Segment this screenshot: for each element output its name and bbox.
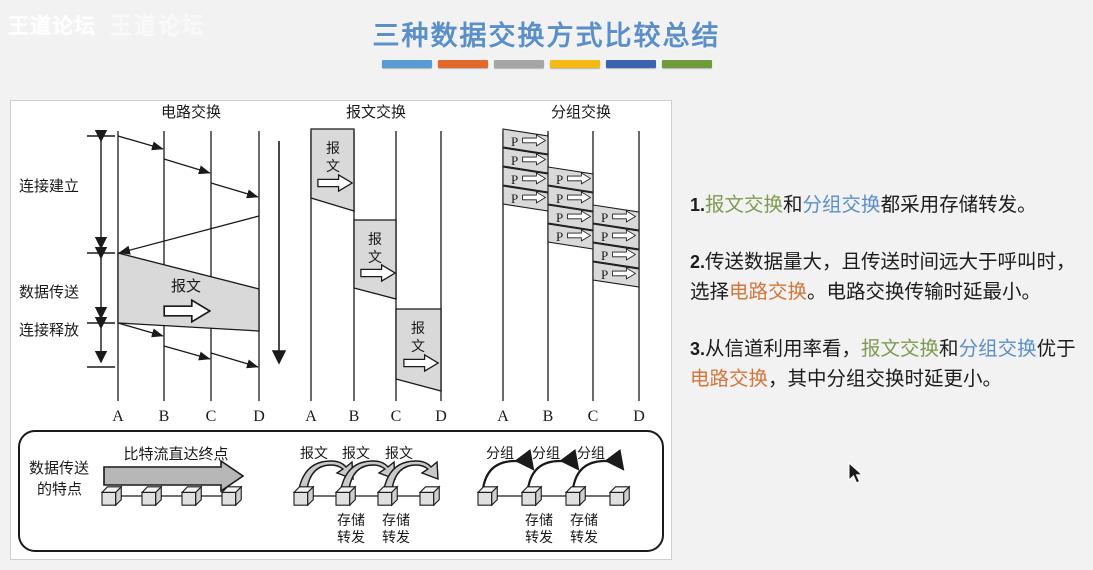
node-label: D: [633, 408, 645, 425]
switching-diagram-svg: 电路交换 报文交换 分组交换 连接建立 数据传送 连接释放: [11, 101, 671, 559]
node-label: B: [349, 408, 360, 425]
feature-box: 数据传送 的特点 比特流直达终点 报文 报文 报文: [19, 431, 663, 551]
circuit-switching-group: 报文 A B C D: [112, 131, 265, 425]
packet-cell-label: P: [601, 248, 608, 263]
svg-text:连接建立: 连接建立: [19, 178, 79, 195]
note-index: 2.: [690, 252, 705, 272]
node-label: A: [497, 408, 509, 425]
packet-cell-label: P: [511, 153, 518, 168]
packet-cell-label: P: [601, 229, 608, 244]
title-rule-segment-5: [606, 60, 656, 68]
note-index: 1.: [690, 195, 705, 215]
node-label: A: [305, 408, 317, 425]
svg-text:报: 报: [326, 141, 340, 157]
summary-notes: 1.报文交换和分组交换都采用存储转发。2.传送数据量大，且传送时间远大于呼叫时，…: [690, 190, 1090, 421]
packet-cell-label: P: [511, 172, 518, 187]
feature-row-label-1: 数据传送: [29, 460, 89, 477]
packet-cell-label: P: [556, 229, 563, 244]
circuit-payload-label: 报文: [171, 278, 201, 295]
feature-store-label: 存储: [337, 513, 365, 529]
note-segment-plain: 和: [783, 195, 803, 216]
node-label: C: [588, 408, 599, 425]
summary-note-2: 2.传送数据量大，且传送时间远大于呼叫时，选择电路交换。电路交换传输时延最小。: [690, 247, 1090, 308]
summary-note-1: 1.报文交换和分组交换都采用存储转发。: [690, 190, 1090, 221]
packet-cell-label: P: [556, 191, 563, 206]
phase-brackets: [87, 136, 115, 367]
feature-message-hop-label: 报文: [385, 446, 413, 462]
packet-cell-label: P: [601, 267, 608, 282]
packet-switching-group: PPPPPPPPPPPP A B C D: [497, 129, 645, 425]
note-segment-ckt: 电路交换: [729, 282, 807, 303]
title-rule-segment-6: [662, 60, 712, 68]
phase-labels: 连接建立 数据传送 连接释放: [19, 178, 79, 339]
feature-store-label: 存储: [382, 513, 410, 529]
packet-cell-label: P: [511, 134, 518, 149]
title-rule: [382, 60, 712, 68]
svg-text:报: 报: [368, 232, 382, 248]
mouse-cursor: [848, 462, 866, 486]
node-label: A: [112, 408, 124, 425]
packet-cell-label: P: [556, 210, 563, 225]
node-label: B: [159, 408, 170, 425]
packet-cell-label: P: [556, 172, 563, 187]
note-segment-pkt: 分组交换: [959, 339, 1037, 360]
svg-text:连接释放: 连接释放: [19, 322, 79, 339]
note-segment-plain: 优于: [1037, 339, 1076, 360]
note-segment-msg: 报文交换: [861, 339, 939, 360]
title-rule-segment-4: [550, 60, 600, 68]
feature-store-label: 转发: [382, 530, 410, 546]
svg-text:文: 文: [411, 339, 425, 355]
note-segment-plain: 都采用存储转发。: [881, 195, 1037, 216]
feature-store-label: 存储: [525, 513, 553, 529]
note-segment-plain: 。电路交换传输时延最小。: [807, 282, 1041, 303]
feature-circuit-caption: 比特流直达终点: [123, 446, 228, 463]
svg-text:报: 报: [411, 321, 425, 337]
node-label: D: [435, 408, 447, 425]
feature-message-hop-label: 报文: [300, 446, 328, 462]
feature-message-hop-label: 报文: [342, 446, 370, 462]
column-title-packet: 分组交换: [551, 103, 611, 121]
column-title-circuit: 电路交换: [161, 103, 221, 121]
note-segment-plain: ，其中分组交换时延更小。: [768, 369, 1002, 390]
switching-diagram-panel: 电路交换 报文交换 分组交换 连接建立 数据传送 连接释放: [10, 100, 672, 560]
note-index: 3.: [690, 339, 705, 359]
column-title-message: 报文交换: [346, 103, 406, 121]
note-segment-msg: 报文交换: [705, 195, 783, 216]
feature-packet-hop-label: 分组: [486, 446, 514, 462]
title-rule-segment-3: [494, 60, 544, 68]
svg-text:数据传送: 数据传送: [19, 284, 79, 301]
note-segment-plain: 从信道利用率看，: [705, 339, 861, 360]
svg-text:文: 文: [368, 250, 382, 266]
feature-store-label: 转发: [337, 530, 365, 546]
title-rule-segment-1: [382, 60, 432, 68]
node-label: B: [543, 408, 554, 425]
packet-cell-label: P: [601, 210, 608, 225]
message-switching-group: 报 文 报 文 报 文 A B C D: [305, 129, 447, 425]
feature-store-label: 转发: [525, 530, 553, 546]
page-title: 三种数据交换方式比较总结: [0, 14, 1093, 53]
summary-note-3: 3.从信道利用率看，报文交换和分组交换优于电路交换，其中分组交换时延更小。: [690, 334, 1090, 395]
title-rule-segment-2: [438, 60, 488, 68]
feature-store-label: 转发: [570, 530, 598, 546]
packet-cell-label: P: [511, 191, 518, 206]
feature-packet-hop-label: 分组: [577, 446, 605, 462]
note-segment-pkt: 分组交换: [803, 195, 881, 216]
node-label: D: [253, 408, 265, 425]
note-segment-ckt: 电路交换: [690, 369, 768, 390]
feature-row-label-2: 的特点: [37, 481, 82, 498]
node-label: C: [206, 408, 217, 425]
note-segment-plain: 和: [939, 339, 959, 360]
feature-packet-hop-label: 分组: [532, 446, 560, 462]
node-label: C: [391, 408, 402, 425]
feature-store-label: 存储: [570, 513, 598, 529]
svg-text:文: 文: [326, 159, 340, 175]
